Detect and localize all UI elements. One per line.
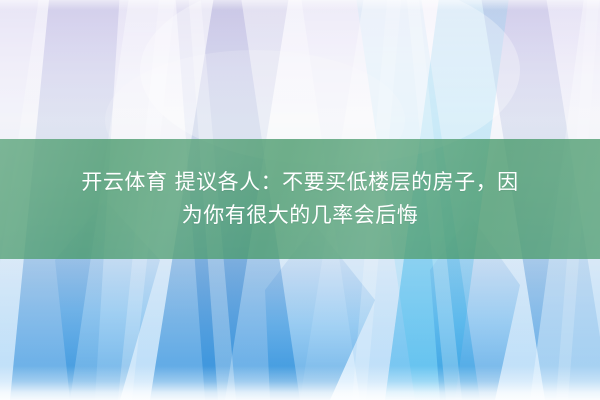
caption-band: 开云体育 提议各人：不要买低楼层的房子，因 为你有很大的几率会后悔: [0, 139, 600, 259]
caption-text: 开云体育 提议各人：不要买低楼层的房子，因 为你有很大的几率会后悔: [22, 166, 578, 232]
caption-line-2: 为你有很大的几率会后悔: [22, 199, 578, 232]
caption-line-1: 开云体育 提议各人：不要买低楼层的房子，因: [22, 166, 578, 199]
banner-image: 开云体育 提议各人：不要买低楼层的房子，因 为你有很大的几率会后悔: [0, 0, 600, 400]
